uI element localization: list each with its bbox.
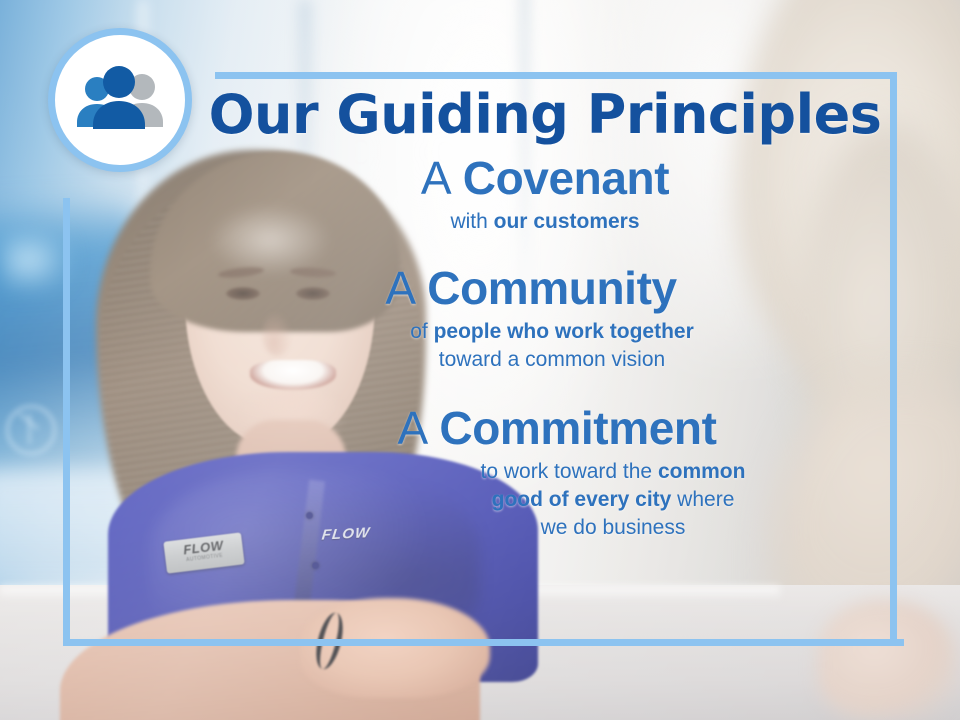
principle-3-article: A [397, 402, 439, 454]
principle-1-article: A [421, 152, 463, 204]
principle-3-heading: A Commitment [224, 402, 890, 454]
people-group-icon [72, 65, 168, 135]
principle-2-sub-prefix: of [410, 320, 433, 343]
page-title: Our Guiding Principles [200, 86, 890, 144]
principle-3-subtext: to work toward the common good of every … [224, 458, 890, 542]
headline-block: Our Guiding Principles A Covenant with o… [200, 86, 890, 542]
people-group-badge [48, 28, 192, 172]
principle-1-sub-bold: our customers [494, 210, 640, 233]
principle-2-subtext: of people who work together toward a com… [200, 318, 862, 374]
principle-2-sub-line2: toward a common vision [439, 348, 665, 371]
principle-community: A Community of people who work together … [200, 262, 890, 374]
principle-commitment: A Commitment to work toward the common g… [200, 402, 890, 542]
principle-2-sub-bold: people who work together [434, 320, 694, 343]
customer-hand [818, 600, 958, 720]
principle-3-sub-suffix: where [671, 488, 734, 511]
principle-3-sub-bold-2: good of every city [492, 488, 672, 511]
principle-1-sub-normal: with [450, 210, 493, 233]
principle-2-heading: A Community [200, 262, 862, 314]
principle-1-heading: A Covenant [200, 152, 890, 204]
principle-2-article: A [385, 262, 427, 314]
shirt-button-bottom [312, 562, 319, 569]
banner-canvas: FLOW FLOW AUTOMOTIVE [0, 0, 960, 720]
principle-3-keyword: Commitment [439, 402, 716, 454]
principle-3-sub-bold-1: common [658, 460, 746, 483]
principle-3-sub-prefix: to work toward the [481, 460, 658, 483]
principle-1-subtext: with our customers [200, 208, 890, 236]
principle-covenant: A Covenant with our customers [200, 152, 890, 236]
principle-2-keyword: Community [427, 262, 676, 314]
principle-3-sub-line3: we do business [541, 516, 686, 539]
principle-1-keyword: Covenant [463, 152, 669, 204]
